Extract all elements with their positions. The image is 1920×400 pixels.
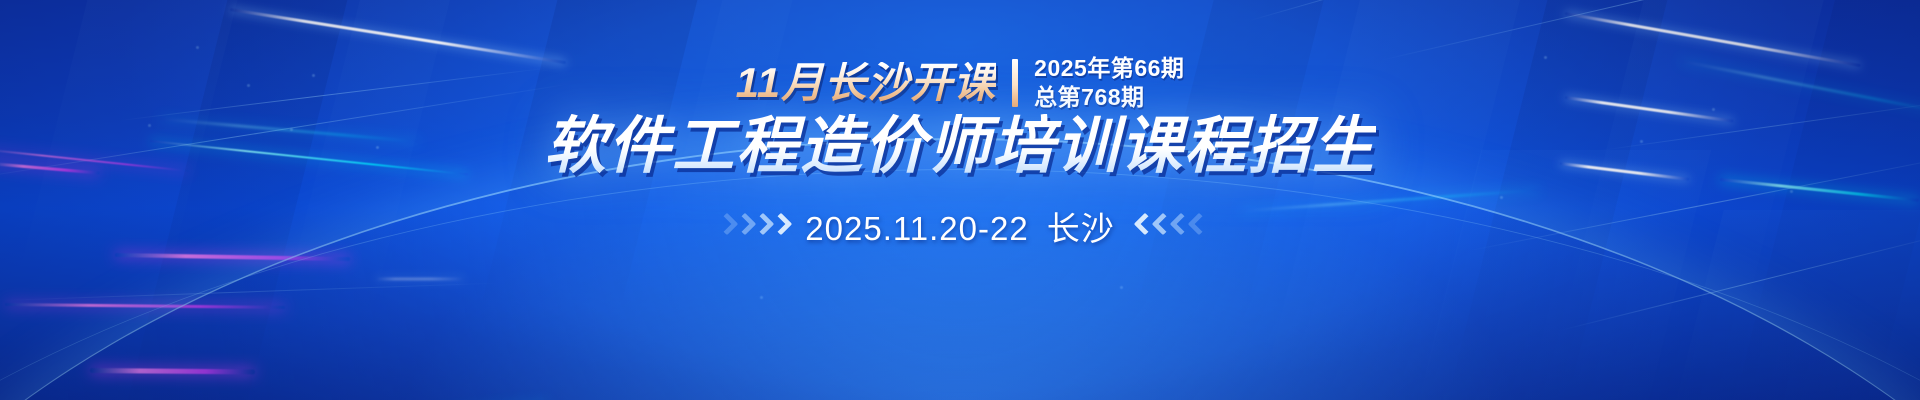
kicker-main-text: 11月长沙开课 xyxy=(736,62,997,104)
chevron-left-icon xyxy=(1151,213,1166,239)
event-city: 长沙 xyxy=(1047,210,1115,247)
event-date: 2025.11.20-22 xyxy=(805,210,1028,247)
banner-content: 11月长沙开课 2025年第66期 总第768期 软件工程造价师培训课程招生 2… xyxy=(0,0,1920,400)
page-title: 软件工程造价师培训课程招生 xyxy=(544,114,1376,180)
chevron-left-icon xyxy=(1187,213,1202,239)
chevron-right-icon xyxy=(718,213,733,239)
issue-year-line: 2025年第66期 xyxy=(1034,55,1184,82)
left-chevron-group xyxy=(718,213,787,239)
promo-banner: 11月长沙开课 2025年第66期 总第768期 软件工程造价师培训课程招生 2… xyxy=(0,0,1920,400)
chevron-left-icon xyxy=(1133,213,1148,239)
kicker-row: 11月长沙开课 2025年第66期 总第768期 xyxy=(736,56,1185,110)
right-chevron-group xyxy=(1133,213,1202,239)
chevron-right-icon xyxy=(754,213,769,239)
chevron-left-icon xyxy=(1169,213,1184,239)
kicker-divider-rule xyxy=(1012,59,1018,107)
issue-total-line: 总第768期 xyxy=(1034,84,1184,111)
dateline-row: 2025.11.20-22长沙 xyxy=(718,202,1201,250)
chevron-right-icon xyxy=(772,213,787,239)
issue-info: 2025年第66期 总第768期 xyxy=(1034,55,1184,110)
event-dateline: 2025.11.20-22长沙 xyxy=(805,202,1114,250)
chevron-right-icon xyxy=(736,213,751,239)
